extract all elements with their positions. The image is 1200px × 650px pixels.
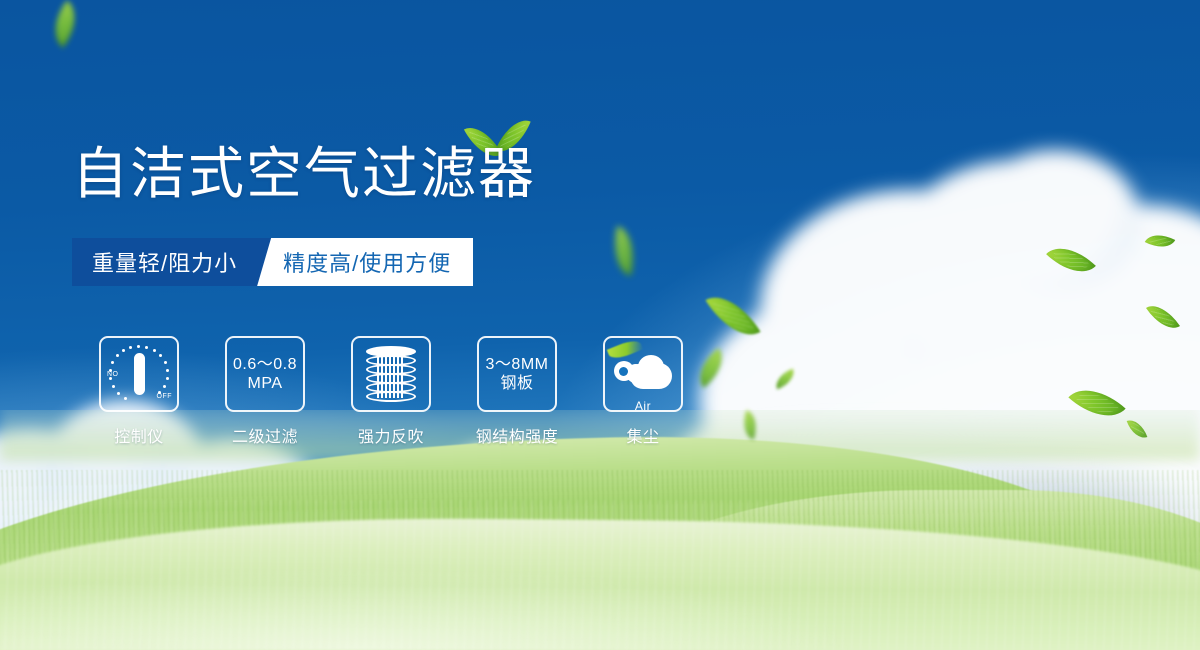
- gauge-needle: [134, 353, 145, 395]
- gauge-label-off: OFF: [157, 393, 173, 400]
- feature-item-steel[interactable]: 3〜8MM 钢板 钢结构强度: [454, 336, 580, 447]
- feature-icon-box: NO OFF: [99, 336, 179, 412]
- feature-icon-box: 3〜8MM 钢板: [477, 336, 557, 412]
- feature-icon-box: 0.6〜0.8 MPA: [225, 336, 305, 412]
- feature-item-pressure[interactable]: 0.6〜0.8 MPA 二级过滤: [202, 336, 328, 447]
- cloud-shape: [630, 363, 672, 389]
- feature-icon-box: [351, 336, 431, 412]
- feature-item-dust[interactable]: Air 集尘: [580, 336, 706, 447]
- page-title: 自洁式空气过滤器: [72, 146, 536, 202]
- pressure-text-icon: 0.6〜0.8 MPA: [233, 355, 297, 393]
- air-label: Air: [612, 399, 674, 413]
- feature-label: 强力反吹: [358, 423, 424, 447]
- pressure-value-line2: MPA: [233, 374, 297, 393]
- leaf-streak-icon: [607, 337, 643, 362]
- feature-label: 集尘: [626, 423, 659, 447]
- cloud-sun-air-icon: Air: [612, 349, 674, 399]
- gauge-label-no: NO: [107, 371, 119, 378]
- steel-value-line1: 3〜8MM: [486, 355, 549, 374]
- feature-label: 控制仪: [114, 423, 164, 447]
- product-banner: 自洁式空气过滤器 重量轻/阻力小 精度高/使用方便: [0, 0, 1200, 650]
- tagline-secondary: 精度高/使用方便: [257, 238, 473, 286]
- steel-plate-text-icon: 3〜8MM 钢板: [486, 355, 549, 393]
- feature-item-backblow[interactable]: 强力反吹: [328, 336, 454, 447]
- field-sheen: [0, 500, 1200, 650]
- feature-label: 二级过滤: [232, 423, 298, 447]
- feature-label: 钢结构强度: [476, 423, 559, 447]
- feature-list: NO OFF 控制仪 0.6〜0.8 MPA 二级过滤: [76, 336, 706, 447]
- gauge-dial-icon: NO OFF: [108, 345, 170, 403]
- filter-cartridge-icon: [366, 346, 416, 402]
- steel-value-line2: 钢板: [486, 374, 549, 393]
- feature-icon-box: Air: [603, 336, 683, 412]
- feature-item-controller[interactable]: NO OFF 控制仪: [76, 336, 202, 447]
- tagline-primary: 重量轻/阻力小: [72, 238, 271, 286]
- pressure-value-line1: 0.6〜0.8: [233, 355, 297, 374]
- tagline-bar: 重量轻/阻力小 精度高/使用方便: [72, 238, 473, 286]
